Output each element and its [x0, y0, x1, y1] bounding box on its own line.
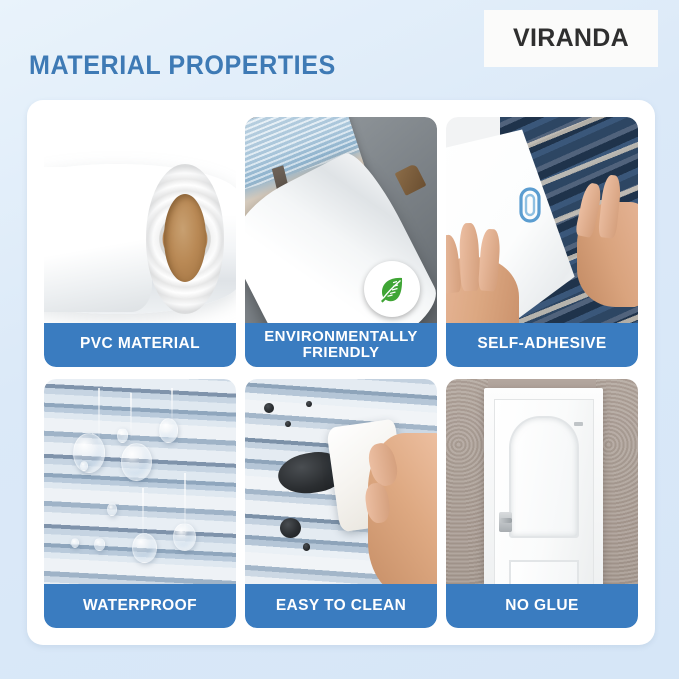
feature-card-pvc-material[interactable]: PVC MATERIAL — [44, 117, 236, 367]
paperclip-icon — [509, 184, 551, 226]
brand-logo-text: VIRANDA — [513, 24, 629, 53]
feature-label-pvc-material: PVC MATERIAL — [44, 323, 236, 367]
feature-label-waterproof: WATERPROOF — [44, 584, 236, 628]
feature-card-no-glue[interactable]: NO GLUE — [446, 379, 638, 629]
page-title: MATERIAL PROPERTIES — [29, 50, 336, 81]
brand-logo: VIRANDA — [484, 10, 658, 67]
features-panel: PVC MATERIAL ENVIRONMENTALLYFRIENDLY — [27, 100, 655, 645]
feature-card-waterproof[interactable]: WATERPROOF — [44, 379, 236, 629]
feature-card-environmentally-friendly[interactable]: ENVIRONMENTALLYFRIENDLY — [245, 117, 437, 367]
feature-label-self-adhesive: SELF-ADHESIVE — [446, 323, 638, 367]
leaf-icon — [364, 261, 420, 317]
page-header: MATERIAL PROPERTIES VIRANDA — [0, 0, 679, 100]
features-grid: PVC MATERIAL ENVIRONMENTALLYFRIENDLY — [44, 117, 638, 628]
feature-card-easy-to-clean[interactable]: EASY TO CLEAN — [245, 379, 437, 629]
feature-label-easy-to-clean: EASY TO CLEAN — [245, 584, 437, 628]
feature-card-self-adhesive[interactable]: SELF-ADHESIVE — [446, 117, 638, 367]
feature-label-no-glue: NO GLUE — [446, 584, 638, 628]
feature-label-environmentally-friendly: ENVIRONMENTALLYFRIENDLY — [245, 323, 437, 367]
